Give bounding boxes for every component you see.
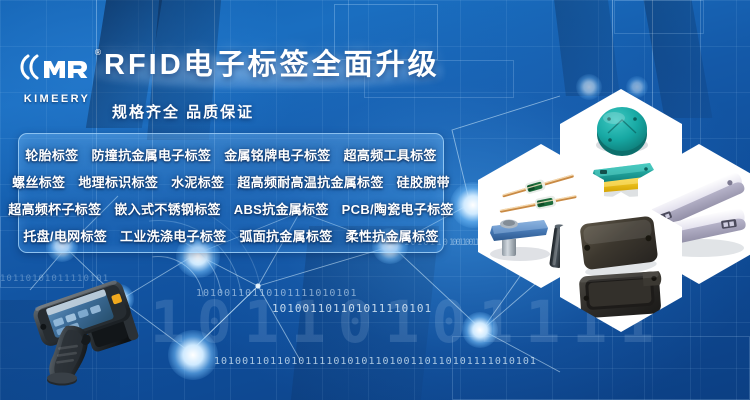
- logo-wordmark: KIMEERY: [14, 93, 100, 105]
- handheld-rfid-reader-image: [28, 268, 150, 386]
- tag-item[interactable]: 螺丝标签: [12, 172, 65, 191]
- tag-row: 超高频杯子标签 嵌入式不锈钢标签 ABS抗金属标签 PCB/陶瓷电子标签: [25, 195, 437, 222]
- tag-item[interactable]: 嵌入式不锈钢标签: [114, 199, 220, 218]
- registered-trademark-icon: ®: [94, 49, 101, 57]
- tag-item[interactable]: 托盘/电网标签: [23, 226, 107, 245]
- headline-block: RFID电子标签全面升级: [104, 50, 440, 82]
- tag-item[interactable]: 超高频耐高温抗金属标签: [237, 172, 383, 191]
- kimeery-logo-icon: [20, 52, 94, 82]
- tag-category-panel: 轮胎标签 防撞抗金属电子标签 金属铭牌电子标签 超高频工具标签 螺丝标签 地理标…: [18, 133, 444, 253]
- tag-row: 轮胎标签 防撞抗金属电子标签 金属铭牌电子标签 超高频工具标签: [25, 141, 437, 168]
- tag-item[interactable]: 工业洗涤电子标签: [120, 226, 226, 245]
- logo[interactable]: ® KIMEERY: [14, 52, 100, 105]
- tag-row: 托盘/电网标签 工业洗涤电子标签 弧面抗金属标签 柔性抗金属标签: [25, 222, 437, 249]
- tag-item[interactable]: 防撞抗金属电子标签: [91, 145, 211, 164]
- tag-item[interactable]: PCB/陶瓷电子标签: [342, 199, 454, 218]
- tag-item[interactable]: 水泥标签: [171, 172, 224, 191]
- tag-item[interactable]: 轮胎标签: [25, 145, 78, 164]
- page-title: RFID电子标签全面升级: [104, 50, 440, 82]
- tag-row: 螺丝标签 地理标识标签 水泥标签 超高频耐高温抗金属标签 硅胶腕带: [25, 168, 437, 195]
- page-subtitle: 规格齐全 品质保证: [112, 101, 254, 122]
- tag-item[interactable]: 硅胶腕带: [397, 172, 450, 191]
- rfid-promo-banner: 10110101111 10100110110101111010101 1010…: [0, 0, 750, 400]
- tag-item[interactable]: 超高频杯子标签: [8, 199, 101, 218]
- tag-item[interactable]: 地理标识标签: [78, 172, 158, 191]
- handheld-rfid-reader[interactable]: [28, 268, 150, 386]
- tag-item[interactable]: 柔性抗金属标签: [346, 226, 439, 245]
- tag-item[interactable]: 超高频工具标签: [344, 145, 437, 164]
- tag-item[interactable]: 弧面抗金属标签: [239, 226, 332, 245]
- tag-item[interactable]: ABS抗金属标签: [234, 199, 329, 218]
- logo-mark: ®: [14, 52, 100, 87]
- tag-item[interactable]: 金属铭牌电子标签: [224, 145, 330, 164]
